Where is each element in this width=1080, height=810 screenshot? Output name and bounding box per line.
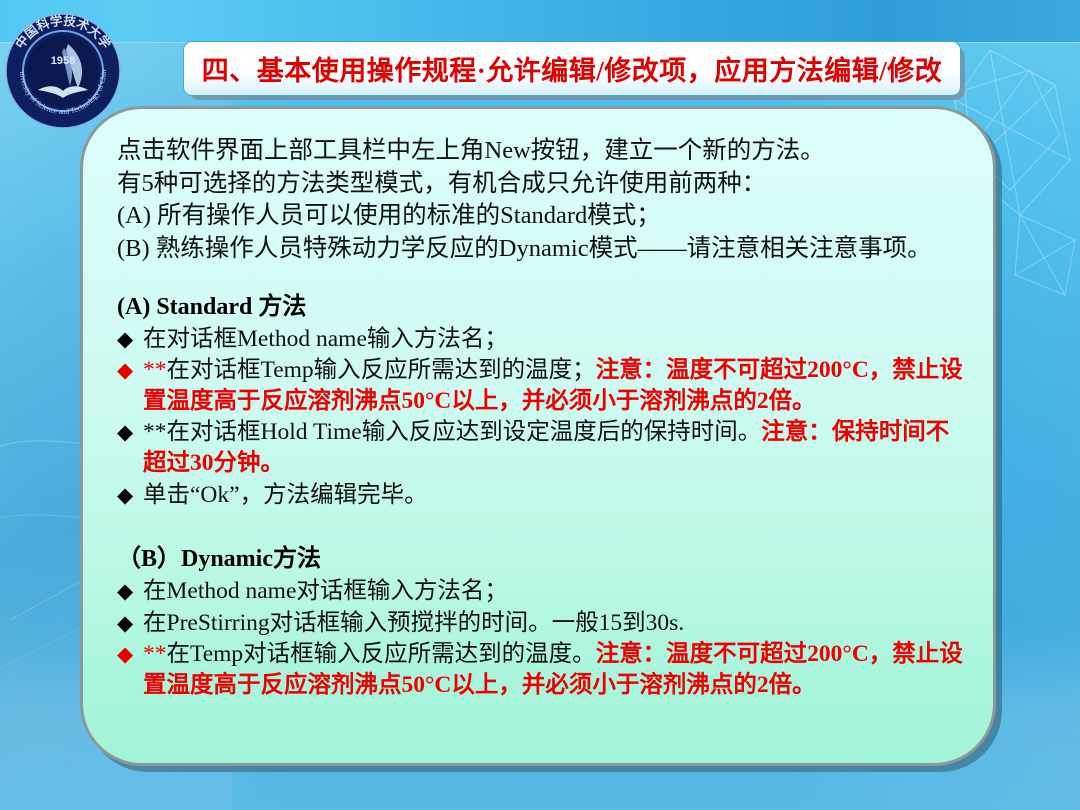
presentation-slide: 1958 中国科学技术大学 University of Science and … — [0, 0, 1080, 810]
diamond-bullet-icon: ◆ — [117, 608, 143, 637]
intro-line-2: 有5种可选择的方法类型模式，有机合成只允许使用前两种： — [117, 168, 967, 201]
intro-line-1: 点击软件界面上部工具栏中左上角New按钮，建立一个新的方法。 — [117, 135, 967, 168]
list-item: ◆ 在Method name对话框输入方法名； — [117, 576, 967, 607]
list-item: ◆ 单击“Ok”，方法编辑完毕。 — [117, 480, 967, 511]
list-item-stars: ** — [143, 419, 167, 445]
diamond-bullet-icon: ◆ — [117, 480, 143, 509]
intro-paragraph: 点击软件界面上部工具栏中左上角New按钮，建立一个新的方法。 有5种可选择的方法… — [117, 135, 967, 266]
section-b-heading: （B）Dynamic方法 — [117, 538, 967, 573]
list-item-text: 在Method name对话框输入方法名； — [143, 576, 967, 607]
list-item-text: 单击“Ok”，方法编辑完毕。 — [143, 480, 967, 511]
list-item-stars: ** — [143, 357, 167, 383]
diamond-bullet-icon: ◆ — [117, 639, 143, 668]
ustc-logo-icon: 1958 中国科学技术大学 University of Science and … — [4, 12, 122, 130]
list-item: ◆ **在对话框Hold Time输入反应达到设定温度后的保持时间。注意：保持时… — [117, 417, 967, 478]
diamond-bullet-icon: ◆ — [117, 324, 143, 353]
list-item-text: **在Temp对话框输入反应所需达到的温度。注意：温度不可超过200°C，禁止设… — [143, 639, 967, 700]
list-item-text: **在对话框Hold Time输入反应达到设定温度后的保持时间。注意：保持时间不… — [143, 417, 967, 478]
list-item: ◆ **在Temp对话框输入反应所需达到的温度。注意：温度不可超过200°C，禁… — [117, 639, 967, 700]
section-a-heading: (A) Standard 方法 — [117, 286, 967, 321]
list-item-text: **在对话框Temp输入反应所需达到的温度；注意：温度不可超过200°C，禁止设… — [143, 355, 967, 416]
list-item-normal: 在对话框Hold Time输入反应达到设定温度后的保持时间。 — [167, 419, 762, 445]
list-item-stars: ** — [143, 641, 167, 667]
list-item-text: 在PreStirring对话框输入预搅拌的时间。一般15到30s. — [143, 608, 967, 639]
intro-line-3: (A) 所有操作人员可以使用的标准的Standard模式； — [117, 200, 967, 233]
diamond-bullet-icon: ◆ — [117, 576, 143, 605]
list-item-normal: 在Method name对话框输入方法名； — [143, 578, 508, 604]
list-item: ◆ 在对话框Method name输入方法名； — [117, 324, 967, 355]
diamond-bullet-icon: ◆ — [117, 417, 143, 446]
logo-year-text: 1958 — [51, 55, 75, 67]
list-item-normal: 在对话框Method name输入方法名； — [143, 326, 508, 352]
page-title: 四、基本使用操作规程·允许编辑/修改项，应用方法编辑/修改 — [202, 49, 943, 88]
intro-line-4: (B) 熟练操作人员特殊动力学反应的Dynamic模式——请注意相关注意事项。 — [117, 233, 967, 266]
list-item-normal: 在Temp对话框输入反应所需达到的温度。 — [167, 641, 596, 667]
content-panel: 点击软件界面上部工具栏中左上角New按钮，建立一个新的方法。 有5种可选择的方法… — [80, 106, 996, 766]
list-item: ◆ **在对话框Temp输入反应所需达到的温度；注意：温度不可超过200°C，禁… — [117, 355, 967, 416]
list-item-text: 在对话框Method name输入方法名； — [143, 324, 967, 355]
list-item-normal: 在对话框Temp输入反应所需达到的温度； — [167, 357, 596, 383]
slide-title-box: 四、基本使用操作规程·允许编辑/修改项，应用方法编辑/修改 — [183, 41, 961, 96]
list-item-normal: 单击“Ok”，方法编辑完毕。 — [143, 482, 428, 508]
list-item-normal: 在PreStirring对话框输入预搅拌的时间。一般15到30s. — [143, 610, 684, 636]
diamond-bullet-icon: ◆ — [117, 355, 143, 384]
list-item: ◆ 在PreStirring对话框输入预搅拌的时间。一般15到30s. — [117, 608, 967, 639]
